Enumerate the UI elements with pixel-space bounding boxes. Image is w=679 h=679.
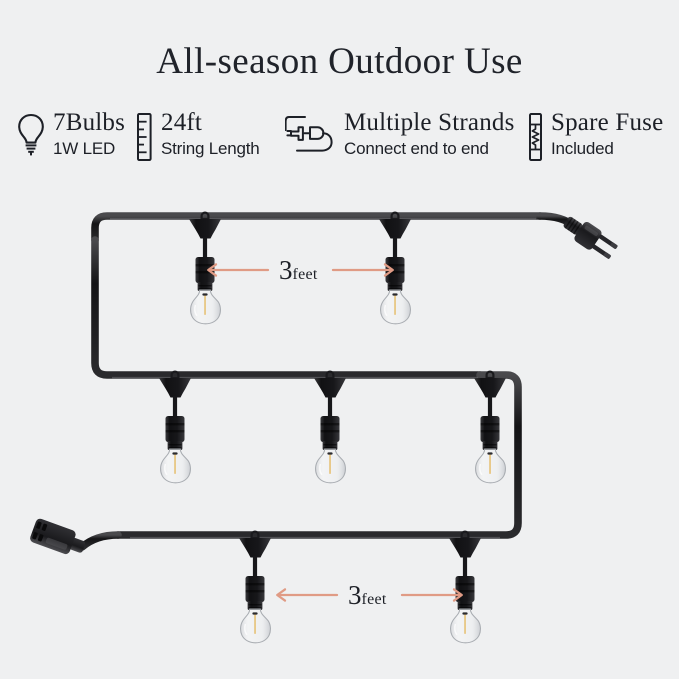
bulb-4 (314, 372, 346, 483)
feature-strands: Multiple Strands Connect end to end (285, 110, 515, 165)
bulb-7 (449, 532, 481, 643)
feature-length-subtitle: String Length (161, 140, 260, 157)
female-socket-end (29, 517, 118, 559)
bulb-6 (239, 532, 271, 643)
feature-strands-title: Multiple Strands (344, 110, 515, 135)
feature-fuse: Spare Fuse Included (528, 110, 663, 167)
measurement-bottom-unit: feet (362, 591, 387, 609)
bulb-5 (474, 372, 506, 483)
male-plug-end (540, 211, 620, 262)
plug-connector-icon (285, 112, 337, 165)
feature-fuse-title: Spare Fuse (551, 110, 663, 135)
ruler-icon (136, 112, 154, 167)
infographic-page: All-season Outdoor Use 7Bulbs 1W LED (0, 0, 679, 679)
bulb-3 (159, 372, 191, 483)
measurement-top-unit: feet (293, 266, 318, 284)
measurement-label-top: 3 feet (279, 255, 318, 286)
light-bulb-icon (16, 112, 46, 163)
feature-length: 24ft String Length (136, 110, 260, 167)
feature-length-title: 24ft (161, 110, 260, 135)
bulb-1 (189, 213, 221, 324)
feature-bulbs-title: 7Bulbs (53, 110, 125, 135)
fuse-icon (528, 112, 544, 167)
feature-bulbs-subtitle: 1W LED (53, 140, 125, 157)
feature-fuse-subtitle: Included (551, 140, 663, 157)
measurement-bottom-number: 3 (348, 580, 362, 611)
feature-list: 7Bulbs 1W LED 24ft String Length (0, 110, 679, 172)
measurement-label-bottom: 3 feet (348, 580, 387, 611)
bulb-2 (379, 213, 411, 324)
page-title: All-season Outdoor Use (0, 40, 679, 83)
feature-bulbs: 7Bulbs 1W LED (16, 110, 125, 163)
feature-strands-subtitle: Connect end to end (344, 140, 515, 157)
string-light-diagram (0, 185, 679, 679)
measurement-top-number: 3 (279, 255, 293, 286)
